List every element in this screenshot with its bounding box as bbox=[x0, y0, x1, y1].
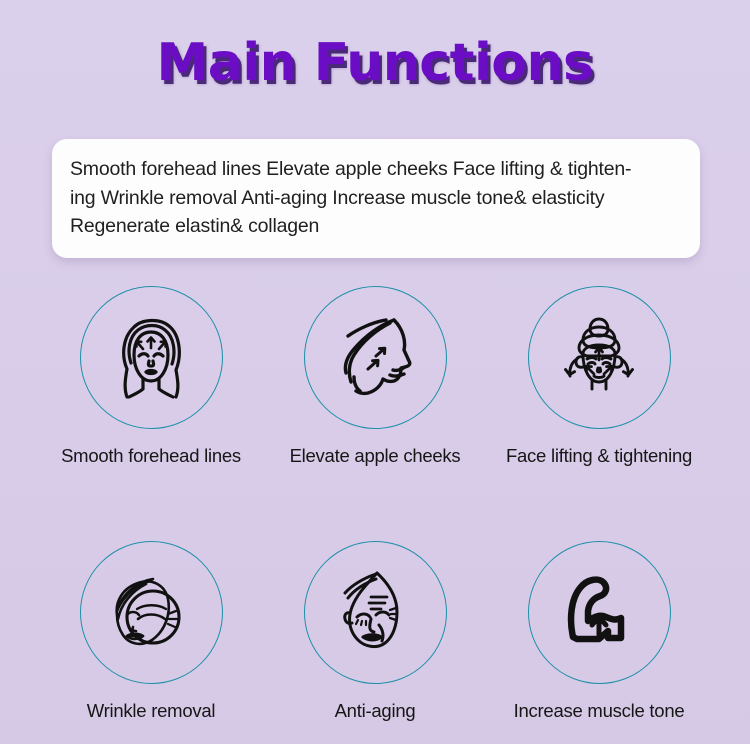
feature-item-smooth-forehead-lines[interactable]: Smooth forehead lines bbox=[80, 286, 223, 467]
feature-label: Elevate apple cheeks bbox=[290, 445, 461, 467]
features-grid: Smooth forehead lines bbox=[0, 286, 750, 722]
features-row-bottom: Wrinkle removal bbox=[0, 541, 750, 722]
feature-icon-circle bbox=[304, 286, 447, 429]
description-card: Smooth forehead lines Elevate apple chee… bbox=[52, 139, 700, 258]
feature-icon-circle bbox=[528, 541, 671, 684]
feature-icon-circle bbox=[80, 286, 223, 429]
feature-item-increase-muscle-tone[interactable]: Increase muscle tone bbox=[528, 541, 671, 722]
feature-icon-circle bbox=[80, 541, 223, 684]
page-title-container: Main Functions bbox=[0, 36, 750, 91]
feature-icon-circle bbox=[528, 286, 671, 429]
front-face-forehead-arrows-icon bbox=[96, 303, 206, 413]
feature-icon-circle bbox=[304, 541, 447, 684]
feature-caption-wrap: Increase muscle tone bbox=[528, 684, 671, 722]
feature-caption-wrap: Anti-aging bbox=[304, 684, 447, 722]
feature-label: Anti-aging bbox=[335, 700, 416, 722]
features-row-top: Smooth forehead lines bbox=[0, 286, 750, 467]
feature-caption-wrap: Face lifting & tightening bbox=[528, 429, 671, 467]
feature-caption-wrap: Wrinkle removal bbox=[80, 684, 223, 722]
feature-label: Wrinkle removal bbox=[87, 700, 216, 722]
feature-item-face-lifting-tightening[interactable]: Face lifting & tightening bbox=[528, 286, 671, 467]
feature-caption-wrap: Elevate apple cheeks bbox=[304, 429, 447, 467]
feature-label: Increase muscle tone bbox=[514, 700, 685, 722]
description-text: Smooth forehead lines Elevate apple chee… bbox=[70, 155, 680, 241]
feature-caption-wrap: Smooth forehead lines bbox=[80, 429, 223, 467]
face-bun-lifting-arrows-icon bbox=[543, 302, 655, 414]
face-magnifier-wrinkles-icon bbox=[95, 557, 207, 669]
feature-label: Face lifting & tightening bbox=[506, 445, 692, 467]
aging-face-wrinkles-icon bbox=[319, 557, 431, 669]
feature-item-wrinkle-removal[interactable]: Wrinkle removal bbox=[80, 541, 223, 722]
main-functions-page: Main Functions Smooth forehead lines Ele… bbox=[0, 0, 750, 744]
feature-label: Smooth forehead lines bbox=[61, 445, 241, 467]
feature-item-elevate-apple-cheeks[interactable]: Elevate apple cheeks bbox=[304, 286, 447, 467]
flexed-bicep-arrow-icon bbox=[547, 561, 651, 665]
feature-item-anti-aging[interactable]: Anti-aging bbox=[304, 541, 447, 722]
page-title: Main Functions bbox=[157, 36, 594, 91]
profile-face-cheek-arrows-icon bbox=[320, 303, 430, 413]
